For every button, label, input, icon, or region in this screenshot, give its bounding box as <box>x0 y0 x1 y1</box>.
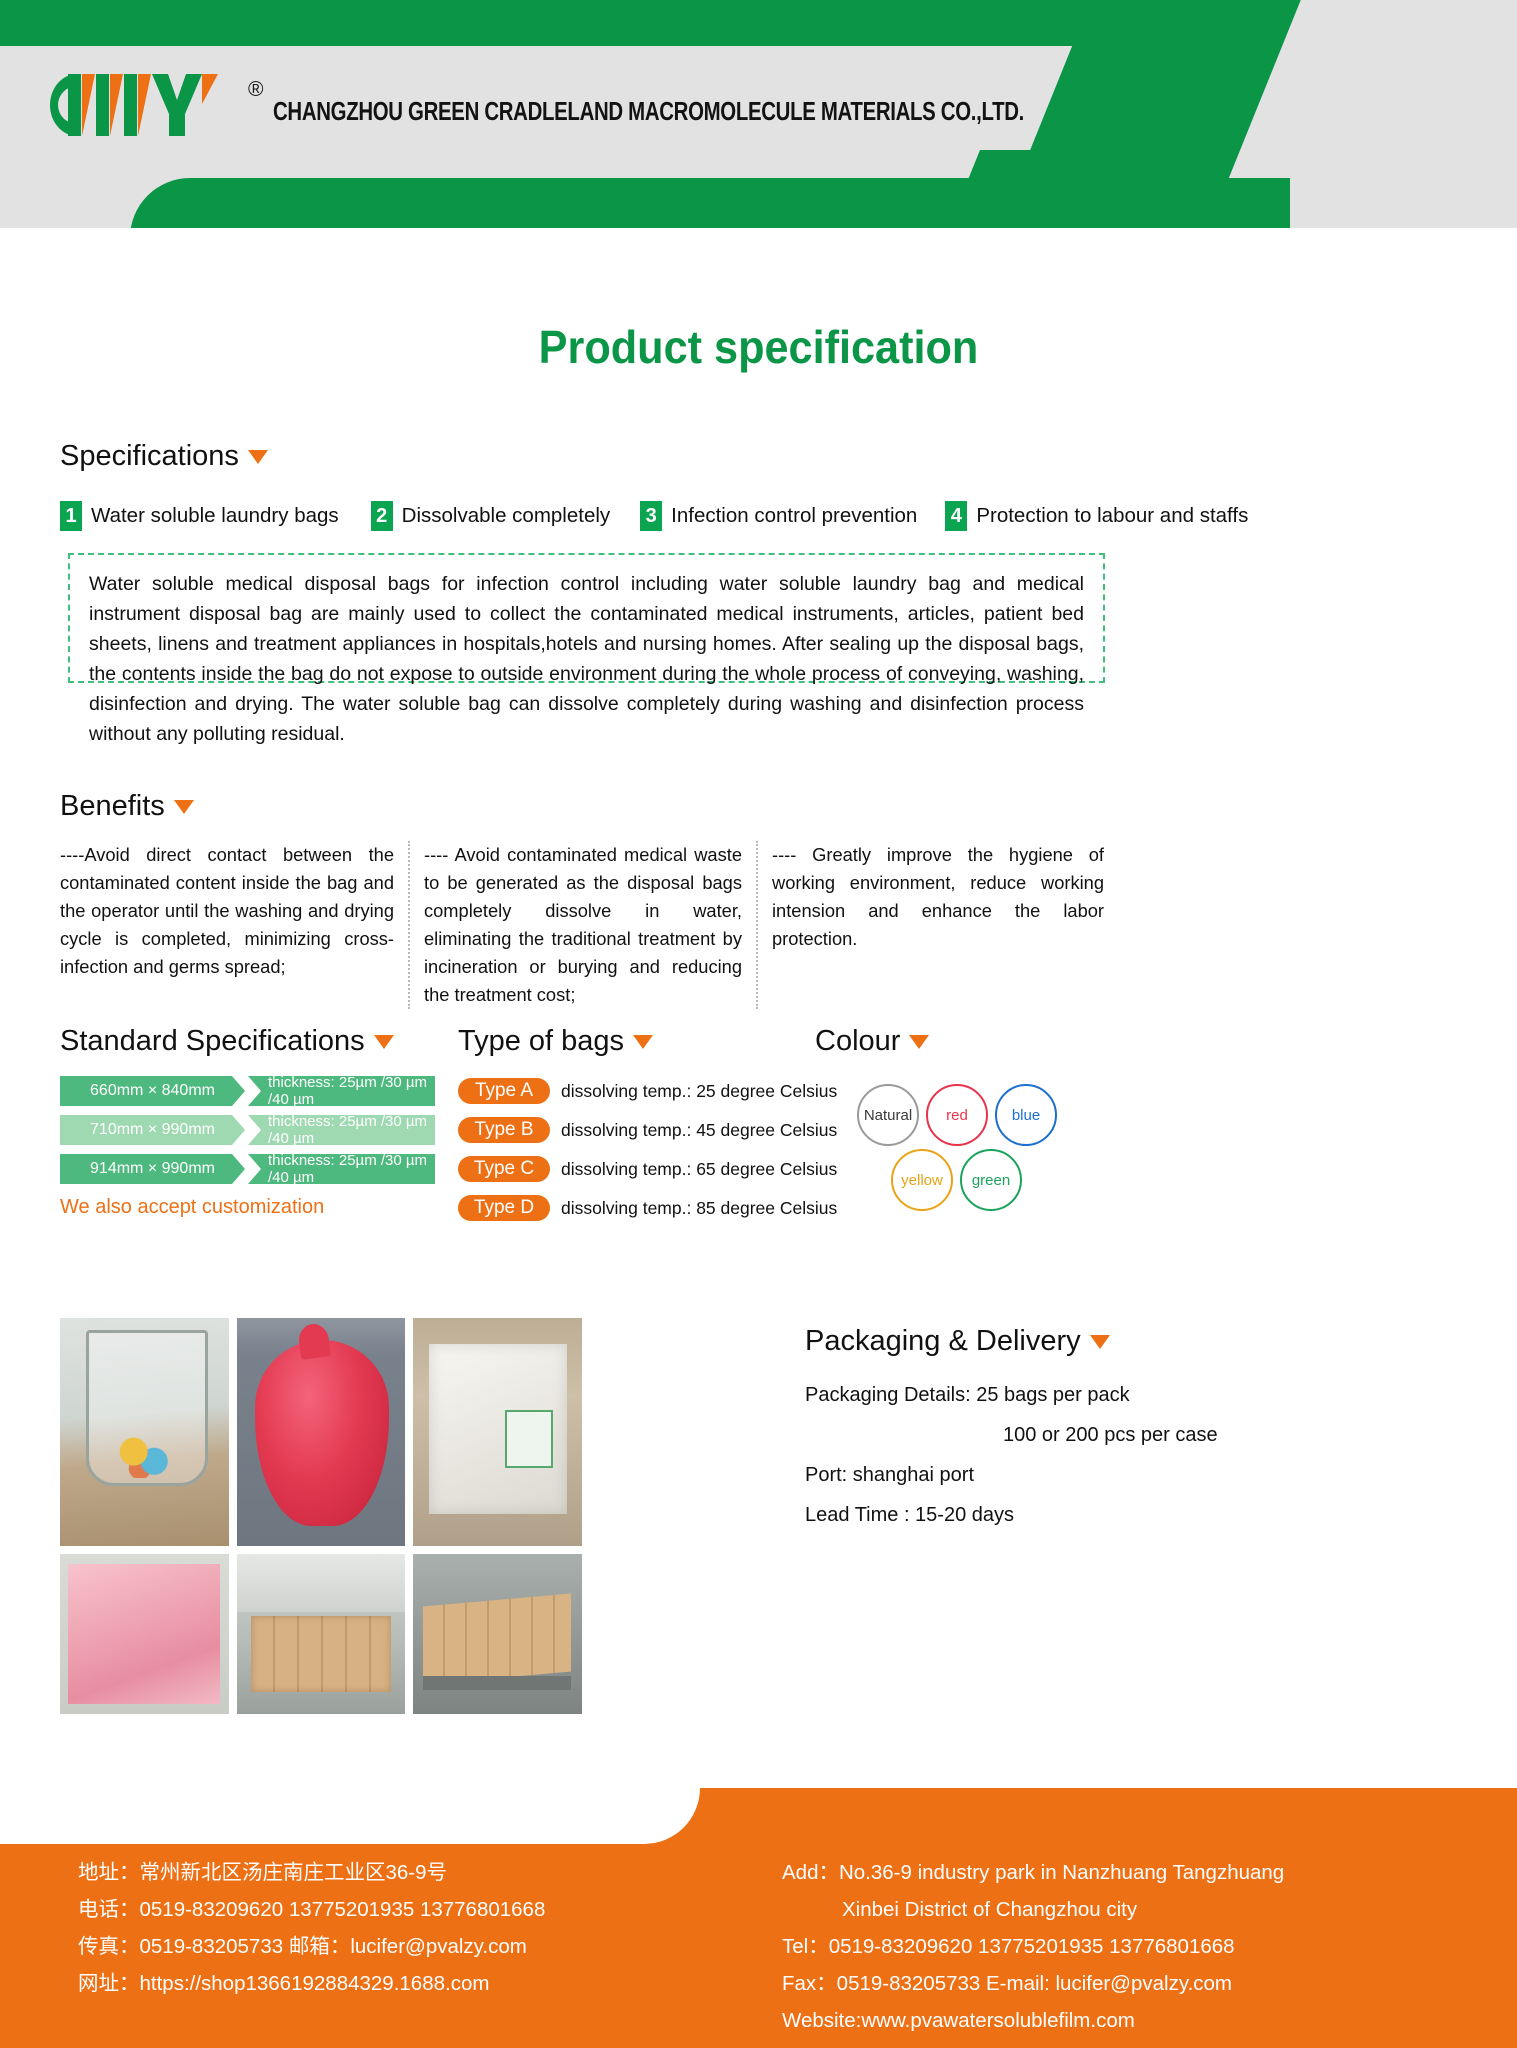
footer-en-tel: Tel：0519-83209620 13775201935 1377680166… <box>782 1928 1517 1965</box>
footer-en-fax-email: Fax：0519-83205733 E-mail: lucifer@pvalzy… <box>782 1965 1517 2002</box>
triangle-down-icon <box>174 800 194 814</box>
benefits-section: Benefits ----Avoid direct contact betwee… <box>60 790 1460 1009</box>
footer-cn-phone: 电话：0519-83209620 13775201935 13776801668 <box>78 1891 700 1928</box>
spec-label-4: Protection to labour and staffs <box>976 504 1248 528</box>
footer-cn-fax-email: 传真：0519-83205733 邮箱：lucifer@pvalzy.com <box>78 1928 700 1965</box>
footer-notch-shape <box>0 1788 700 1844</box>
standard-specifications-heading-label: Standard Specifications <box>60 1025 365 1058</box>
colour-option-natural: Natural <box>857 1084 919 1146</box>
type-of-bags-section: Type of bags Type A dissolving temp.: 25… <box>458 1025 858 1232</box>
photo-pink-sheet <box>60 1554 229 1714</box>
type-row-a: Type A dissolving temp.: 25 degree Celsi… <box>458 1076 858 1106</box>
triangle-down-icon <box>248 450 268 464</box>
packaging-heading-label: Packaging & Delivery <box>805 1325 1081 1358</box>
type-pill-b: Type B <box>458 1117 550 1143</box>
type-row-c: Type C dissolving temp.: 65 degree Celsi… <box>458 1154 858 1184</box>
spec-label-2: Dissolvable completely <box>402 504 611 528</box>
cllzy-logo-mark <box>46 74 246 136</box>
colour-option-yellow: yellow <box>891 1149 953 1211</box>
photo-container-loading <box>237 1554 406 1714</box>
spec-thickness-1: thickness: 25µm /30 µm /40 µm <box>248 1076 435 1106</box>
standard-specifications-section: Standard Specifications 660mm × 840mm th… <box>60 1025 480 1219</box>
colour-option-blue: blue <box>995 1084 1057 1146</box>
benefit-column-3: ---- Greatly improve the hygiene of work… <box>756 841 1104 1009</box>
packaging-details: Packaging Details: 25 bags per pack 100 … <box>805 1384 1425 1527</box>
packaging-lead-time: Lead Time : 15-20 days <box>805 1504 1425 1527</box>
spec-item-3: 3 Infection control prevention <box>640 501 917 531</box>
spec-label-3: Infection control prevention <box>671 504 917 528</box>
company-name: CHANGZHOU GREEN CRADLELAND MACROMOLECULE… <box>273 98 1024 127</box>
spec-badge-3: 3 <box>640 501 662 531</box>
type-desc-b: dissolving temp.: 45 degree Celsius <box>561 1120 837 1141</box>
benefit-column-1: ----Avoid direct contact between the con… <box>60 841 408 1009</box>
spec-badge-4: 4 <box>945 501 967 531</box>
standard-specifications-list: 660mm × 840mm thickness: 25µm /30 µm /40… <box>60 1076 480 1184</box>
specifications-heading-label: Specifications <box>60 440 239 473</box>
spec-chevron-row: 660mm × 840mm thickness: 25µm /30 µm /40… <box>60 1076 435 1106</box>
company-logo: ® CHANGZHOU GREEN CRADLELAND MACROMOLECU… <box>46 74 1212 136</box>
triangle-down-icon <box>909 1035 929 1049</box>
type-pill-a: Type A <box>458 1078 550 1104</box>
colour-section: Colour Natural red blue yellow green <box>815 1025 1115 1196</box>
type-row-d: Type D dissolving temp.: 85 degree Celsi… <box>458 1193 858 1223</box>
benefits-heading: Benefits <box>60 790 1460 823</box>
spec-badge-2: 2 <box>371 501 393 531</box>
triangle-down-icon <box>633 1035 653 1049</box>
type-of-bags-list: Type A dissolving temp.: 25 degree Celsi… <box>458 1076 858 1223</box>
spec-label-1: Water soluble laundry bags <box>91 504 339 528</box>
spec-size-1: 660mm × 840mm <box>60 1076 245 1106</box>
specifications-items: 1 Water soluble laundry bags 2 Dissolvab… <box>60 501 1460 531</box>
page-header: ® CHANGZHOU GREEN CRADLELAND MACROMOLECU… <box>0 0 1517 228</box>
footer-en-address-line1: Add：No.36-9 industry park in Nanzhuang T… <box>782 1854 1517 1891</box>
specifications-heading: Specifications <box>60 440 1460 473</box>
header-grey-rounded-block <box>1290 120 1517 228</box>
spec-item-2: 2 Dissolvable completely <box>371 501 611 531</box>
type-pill-d: Type D <box>458 1195 550 1221</box>
colour-options: Natural red blue yellow green <box>815 1076 1115 1196</box>
colour-option-green: green <box>960 1149 1022 1211</box>
footer-chinese-contact: 地址：常州新北区汤庄南庄工业区36-9号 电话：0519-83209620 13… <box>0 1854 700 2039</box>
specifications-section: Specifications 1 Water soluble laundry b… <box>60 440 1460 531</box>
standard-specifications-heading: Standard Specifications <box>60 1025 480 1058</box>
triangle-down-icon <box>1090 1335 1110 1349</box>
packaging-details-line-2: 100 or 200 pcs per case <box>805 1424 1425 1447</box>
page-footer: 地址：常州新北区汤庄南庄工业区36-9号 电话：0519-83209620 13… <box>0 1788 1517 2048</box>
benefits-heading-label: Benefits <box>60 790 165 823</box>
packaging-heading: Packaging & Delivery <box>805 1325 1425 1358</box>
photo-pallet-stack <box>413 1554 582 1714</box>
spec-thickness-3: thickness: 25µm /30 µm /40 µm <box>248 1154 435 1184</box>
type-pill-c: Type C <box>458 1156 550 1182</box>
type-of-bags-heading-label: Type of bags <box>458 1025 624 1058</box>
packaging-delivery-section: Packaging & Delivery Packaging Details: … <box>805 1325 1425 1544</box>
product-description-text: Water soluble medical disposal bags for … <box>89 569 1084 749</box>
header-green-band <box>0 0 1130 46</box>
spec-chevron-row: 914mm × 990mm thickness: 25µm /30 µm /40… <box>60 1154 435 1184</box>
photo-row-1 <box>60 1318 582 1546</box>
spec-size-2: 710mm × 990mm <box>60 1115 245 1145</box>
spec-chevron-row: 710mm × 990mm thickness: 25µm /30 µm /40… <box>60 1115 435 1145</box>
photo-row-2 <box>60 1554 582 1714</box>
benefit-column-2: ---- Avoid contaminated medical waste to… <box>408 841 756 1009</box>
footer-cn-address: 地址：常州新北区汤庄南庄工业区36-9号 <box>78 1854 700 1891</box>
type-of-bags-heading: Type of bags <box>458 1025 858 1058</box>
spec-item-4: 4 Protection to labour and staffs <box>945 501 1248 531</box>
packaging-details-line-1: Packaging Details: 25 bags per pack <box>805 1384 1425 1407</box>
colour-heading: Colour <box>815 1025 1115 1058</box>
product-photo-grid <box>60 1318 582 1722</box>
footer-columns: 地址：常州新北区汤庄南庄工业区36-9号 电话：0519-83209620 13… <box>0 1854 1517 2039</box>
type-desc-a: dissolving temp.: 25 degree Celsius <box>561 1081 837 1102</box>
packaging-port: Port: shanghai port <box>805 1464 1425 1487</box>
type-row-b: Type B dissolving temp.: 45 degree Celsi… <box>458 1115 858 1145</box>
benefits-columns: ----Avoid direct contact between the con… <box>60 841 1460 1009</box>
colour-option-red: red <box>926 1084 988 1146</box>
registered-trademark-icon: ® <box>248 78 263 102</box>
footer-en-address-line2: Xinbei District of Changzhou city <box>782 1891 1517 1928</box>
type-desc-c: dissolving temp.: 65 degree Celsius <box>561 1159 837 1180</box>
product-description-box: Water soluble medical disposal bags for … <box>68 553 1105 683</box>
photo-film-in-carton <box>413 1318 582 1546</box>
footer-en-website[interactable]: Website:www.pvawatersolublefilm.com <box>782 2002 1517 2039</box>
footer-english-contact: Add：No.36-9 industry park in Nanzhuang T… <box>700 1854 1517 2039</box>
spec-badge-1: 1 <box>60 501 82 531</box>
footer-cn-website[interactable]: 网址：https://shop1366192884329.1688.com <box>78 1965 700 2002</box>
page-title: Product specification <box>46 320 1472 374</box>
type-desc-d: dissolving temp.: 85 degree Celsius <box>561 1198 837 1219</box>
triangle-down-icon <box>374 1035 394 1049</box>
photo-clear-bag-in-frame <box>60 1318 229 1546</box>
colour-heading-label: Colour <box>815 1025 900 1058</box>
spec-size-3: 914mm × 990mm <box>60 1154 245 1184</box>
customization-note: We also accept customization <box>60 1196 480 1219</box>
photo-red-bag-with-laundry <box>237 1318 406 1546</box>
spec-thickness-2: thickness: 25µm /30 µm /40 µm <box>248 1115 435 1145</box>
spec-item-1: 1 Water soluble laundry bags <box>60 501 339 531</box>
